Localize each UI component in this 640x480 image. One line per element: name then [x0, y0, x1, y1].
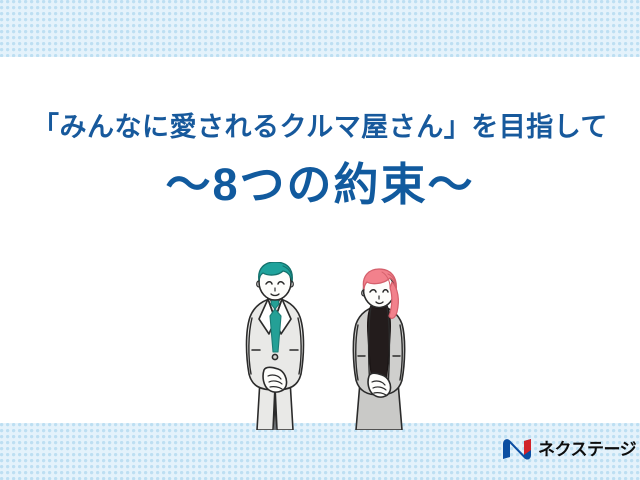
headline-line-1: 「みんなに愛されるクルマ屋さん」を目指して: [0, 112, 640, 143]
brand-logo-text: ネクステージ: [538, 441, 636, 458]
headline-block: 「みんなに愛されるクルマ屋さん」を目指して 〜8つの約束〜: [0, 112, 640, 211]
top-dot-band: [0, 0, 640, 57]
brand-logo: ネクステージ: [502, 434, 636, 464]
nexstage-n-mark-icon: [502, 437, 532, 461]
male-staff-figure: [247, 262, 304, 430]
headline-line-2: 〜8つの約束〜: [0, 159, 640, 211]
slide-canvas: 「みんなに愛されるクルマ屋さん」を目指して 〜8つの約束〜: [0, 0, 640, 480]
female-staff-figure: [353, 269, 404, 430]
two-staff-bowing-illustration: [226, 262, 418, 430]
